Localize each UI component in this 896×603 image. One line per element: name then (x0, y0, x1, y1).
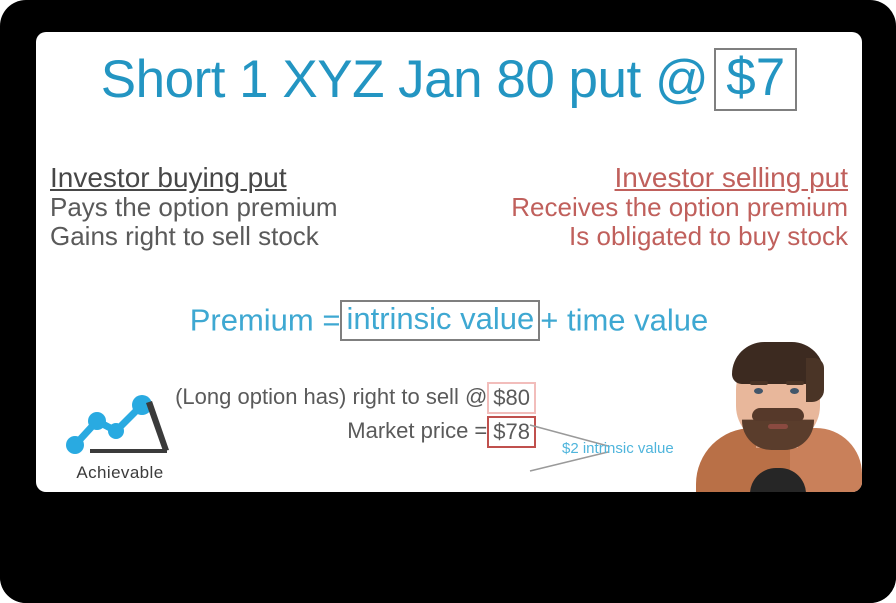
buying-put-heading: Investor buying put (50, 163, 430, 193)
example-market-label: Market price = (347, 418, 487, 443)
presenter-webcam (694, 342, 862, 492)
presenter-mustache (752, 408, 804, 421)
video-player: Short 1 XYZ Jan 80 put @$7 Investor buyi… (0, 0, 896, 603)
achievable-chart-icon (60, 387, 180, 463)
buying-put-line-2: Gains right to sell stock (50, 222, 430, 251)
selling-put-line-1: Receives the option premium (428, 193, 848, 222)
premium-formula-lead: Premium = (190, 302, 341, 337)
premium-formula-boxed-term: intrinsic value (340, 300, 540, 341)
selling-put-column: Investor selling put Receives the option… (428, 163, 848, 250)
selling-put-line-2: Is obligated to buy stock (428, 222, 848, 251)
buying-put-line-1: Pays the option premium (50, 193, 430, 222)
callout-label: $2 intrinsic value (562, 440, 674, 457)
presenter-hair-side (806, 358, 824, 402)
player-controls (0, 492, 896, 603)
selling-put-heading: Investor selling put (428, 163, 848, 193)
premium-formula: Premium =intrinsic value+ time value (36, 300, 862, 341)
slide-title-text: Short 1 XYZ Jan 80 put @ (101, 50, 708, 109)
buying-put-column: Investor buying put Pays the option prem… (50, 163, 430, 250)
premium-formula-trail: + time value (540, 302, 708, 337)
example-strike-value: $80 (487, 382, 536, 414)
slide-canvas: Short 1 XYZ Jan 80 put @$7 Investor buyi… (36, 32, 862, 492)
slide-title: Short 1 XYZ Jan 80 put @$7 (36, 48, 862, 111)
presenter-mouth (768, 424, 788, 429)
achievable-logo-text: Achievable (60, 463, 180, 483)
presenter-brow-right (786, 381, 804, 385)
example-strike-label: (Long option has) right to sell @ (175, 384, 487, 409)
presenter-eye-left (754, 388, 763, 394)
presenter-brow-left (750, 381, 768, 385)
slide-title-boxed-price: $7 (714, 48, 797, 111)
presenter-eye-right (790, 388, 799, 394)
achievable-logo: Achievable (60, 387, 180, 487)
